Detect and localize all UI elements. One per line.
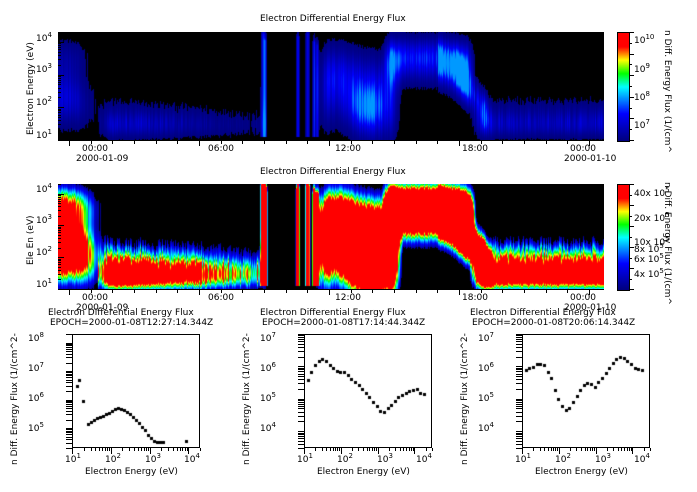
axis-tick xyxy=(58,270,61,271)
spectrum-2-xtick-1: 102 xyxy=(337,452,353,465)
axis-tick xyxy=(141,448,142,451)
axis-tick xyxy=(134,290,135,293)
axis-tick xyxy=(516,339,522,340)
axis-tick xyxy=(627,448,628,451)
axis-tick xyxy=(502,141,503,144)
axis-tick xyxy=(551,448,552,451)
axis-tick xyxy=(221,290,222,293)
axis-tick xyxy=(58,115,61,116)
axis-tick xyxy=(58,140,604,141)
axis-tick xyxy=(576,448,577,451)
axis-tick xyxy=(58,257,64,258)
axis-tick xyxy=(339,448,340,451)
axis-tick xyxy=(107,448,108,451)
axis-tick xyxy=(58,109,61,110)
axis-tick xyxy=(298,412,304,413)
axis-tick xyxy=(372,290,373,293)
axis-tick xyxy=(138,448,139,451)
axis-tick xyxy=(95,448,96,451)
axis-tick xyxy=(58,206,61,207)
axis-tick xyxy=(58,75,64,76)
axis-tick xyxy=(112,141,113,144)
axis-tick xyxy=(516,379,522,380)
axis-tick xyxy=(516,448,522,449)
axis-tick xyxy=(58,88,61,89)
panel-top-xtick-2: 12:00 xyxy=(335,144,361,154)
axis-tick xyxy=(58,259,61,260)
axis-tick xyxy=(372,448,373,451)
axis-tick xyxy=(58,49,61,50)
axis-tick xyxy=(553,448,554,451)
axis-tick xyxy=(66,349,72,350)
axis-tick xyxy=(459,290,460,295)
axis-tick xyxy=(394,290,395,293)
axis-tick xyxy=(629,43,632,44)
panel-mid-cb-tick-4: 6x 105 xyxy=(634,252,664,265)
axis-tick xyxy=(298,389,304,390)
axis-tick xyxy=(522,448,523,454)
panel-top-colorbar xyxy=(617,32,630,142)
axis-tick xyxy=(298,335,304,336)
axis-tick xyxy=(516,337,522,338)
axis-tick xyxy=(134,141,135,144)
axis-tick xyxy=(629,289,634,290)
axis-tick xyxy=(351,141,352,144)
spectrum-2-ytick-1: 106 xyxy=(260,361,276,374)
axis-tick xyxy=(629,237,632,238)
axis-tick xyxy=(58,197,61,198)
axis-tick xyxy=(358,448,359,451)
panel-mid-xtick-4: 00:00 xyxy=(570,293,596,303)
axis-tick xyxy=(516,436,522,437)
panel-top-cb-tick-2: 108 xyxy=(634,90,650,103)
axis-tick xyxy=(416,141,417,144)
axis-tick xyxy=(58,242,61,243)
axis-tick xyxy=(221,141,222,144)
axis-tick xyxy=(589,290,590,295)
panel-top-spectrogram xyxy=(58,32,604,140)
axis-tick xyxy=(481,141,482,144)
axis-tick xyxy=(66,345,72,346)
axis-tick xyxy=(333,448,334,451)
axis-tick xyxy=(156,141,157,144)
spectrum-1-subtitle: EPOCH=2000-01-08T12:27:14.344Z xyxy=(50,318,213,328)
spectrum-1-plot xyxy=(72,334,200,448)
spectrum-2-subtitle: EPOCH=2000-01-08T17:14:44.344Z xyxy=(262,318,425,328)
panel-mid-ylabel: Ele En (eV) xyxy=(26,215,36,265)
axis-tick xyxy=(351,290,352,293)
axis-tick xyxy=(516,434,522,435)
spectrum-3-xtick-2: 103 xyxy=(595,452,611,465)
axis-tick xyxy=(298,374,304,375)
axis-tick xyxy=(298,344,304,345)
panel-top-xtick-1: 06:00 xyxy=(208,144,234,154)
axis-tick xyxy=(632,448,633,454)
spectrum-1-ylabel: n Diff. Energy Flux (1/(cm^2- xyxy=(10,333,20,465)
spectrum-panel-1: Electron Differential Energy Flux EPOCH=… xyxy=(0,305,232,492)
axis-tick xyxy=(516,383,522,384)
spectrum-2-ylabel: n Diff. Energy Flux (1/(cm^2- xyxy=(242,333,252,465)
axis-tick xyxy=(298,341,304,342)
axis-tick xyxy=(58,230,61,231)
axis-tick xyxy=(304,448,305,454)
axis-tick xyxy=(66,437,72,438)
axis-tick xyxy=(629,205,634,206)
axis-tick xyxy=(298,404,304,405)
axis-tick xyxy=(66,334,72,335)
spectrum-3-title: Electron Differential Energy Flux xyxy=(470,308,616,318)
spectrum-1-xtick-2: 103 xyxy=(145,452,161,465)
axis-tick xyxy=(406,448,407,451)
axis-tick xyxy=(298,448,304,449)
axis-tick xyxy=(329,290,330,295)
axis-tick xyxy=(629,97,634,98)
axis-tick xyxy=(352,448,353,451)
axis-tick xyxy=(66,401,72,402)
axis-tick xyxy=(516,334,522,335)
axis-tick xyxy=(66,363,72,364)
axis-tick xyxy=(516,431,522,432)
axis-tick xyxy=(58,42,64,43)
axis-tick xyxy=(58,78,61,79)
axis-tick xyxy=(298,379,304,380)
axis-tick xyxy=(66,408,72,409)
axis-tick xyxy=(66,347,72,348)
axis-tick xyxy=(374,448,375,451)
spectrum-1-ytick-3: 105 xyxy=(28,421,44,434)
axis-tick xyxy=(66,382,72,383)
axis-tick xyxy=(58,248,61,249)
spectrum-1-xlabel: Electron Energy (eV) xyxy=(85,467,178,477)
axis-tick xyxy=(395,448,396,451)
axis-tick xyxy=(629,448,630,451)
axis-tick xyxy=(516,357,522,358)
axis-tick xyxy=(592,448,593,451)
axis-tick xyxy=(650,448,651,451)
axis-tick xyxy=(242,141,243,144)
axis-tick xyxy=(66,404,72,405)
axis-tick xyxy=(66,414,72,415)
spectrum-1-ytick-1: 107 xyxy=(28,361,44,374)
axis-tick xyxy=(629,118,634,119)
axis-tick xyxy=(58,92,61,93)
axis-tick xyxy=(559,448,560,454)
axis-tick xyxy=(516,400,522,401)
axis-tick xyxy=(629,279,632,280)
axis-tick xyxy=(516,404,522,405)
axis-tick xyxy=(481,290,482,293)
axis-tick xyxy=(264,141,265,144)
panel-top-xtick-4: 00:00 xyxy=(570,144,596,154)
axis-tick xyxy=(200,448,201,451)
axis-tick xyxy=(378,448,379,454)
axis-tick xyxy=(177,448,178,451)
axis-tick xyxy=(66,371,72,372)
axis-tick xyxy=(298,351,304,352)
axis-tick xyxy=(58,184,61,185)
spectrum-2-xtick-2: 103 xyxy=(377,452,393,465)
spectrum-1-xtick-3: 104 xyxy=(184,452,200,465)
axis-tick xyxy=(72,448,73,454)
axis-tick xyxy=(298,376,304,377)
axis-tick xyxy=(544,448,545,451)
axis-tick xyxy=(58,238,61,239)
spectrum-2-ytick-3: 104 xyxy=(260,421,276,434)
spectrum-2-plot xyxy=(304,334,432,448)
spectrum-3-ytick-1: 106 xyxy=(478,361,494,374)
axis-tick xyxy=(66,432,72,433)
axis-tick xyxy=(546,290,547,293)
spectrum-2-title: Electron Differential Energy Flux xyxy=(260,308,406,318)
axis-tick xyxy=(555,448,556,451)
spectrum-1-title: Electron Differential Energy Flux xyxy=(48,308,194,318)
axis-tick xyxy=(607,448,608,451)
axis-tick xyxy=(58,264,61,265)
axis-tick xyxy=(629,184,634,185)
axis-tick xyxy=(548,448,549,451)
axis-tick xyxy=(298,444,304,445)
axis-tick xyxy=(173,448,174,451)
axis-tick xyxy=(298,368,304,369)
panel-top-ytick-3: 103 xyxy=(36,62,52,75)
axis-tick xyxy=(242,290,243,293)
axis-tick xyxy=(335,448,336,451)
panel-mid-ytick-1: 101 xyxy=(36,277,52,290)
axis-tick xyxy=(66,431,72,432)
axis-tick xyxy=(570,448,571,451)
axis-tick xyxy=(177,290,178,293)
axis-tick xyxy=(369,448,370,451)
spectrum-2-ytick-0: 107 xyxy=(260,331,276,344)
panel-top-cb-tick-3: 107 xyxy=(634,118,650,131)
axis-tick xyxy=(363,448,364,451)
axis-tick xyxy=(298,400,304,401)
axis-tick xyxy=(516,366,522,367)
panel-top: Electron Differential Energy Flux Electr… xyxy=(0,0,697,168)
panel-top-ytick-1: 101 xyxy=(36,128,52,141)
axis-tick xyxy=(516,369,522,370)
axis-tick xyxy=(66,402,72,403)
axis-tick xyxy=(66,380,72,381)
axis-tick xyxy=(129,448,130,451)
axis-tick xyxy=(567,141,568,144)
axis-tick xyxy=(516,408,522,409)
axis-tick xyxy=(58,225,64,226)
spectrum-1-xtick-1: 102 xyxy=(105,452,121,465)
axis-tick xyxy=(533,448,534,451)
axis-tick xyxy=(389,448,390,451)
axis-tick xyxy=(58,32,61,33)
axis-tick xyxy=(66,428,72,429)
axis-tick xyxy=(426,448,427,451)
axis-tick xyxy=(146,448,147,451)
axis-tick xyxy=(180,448,181,451)
axis-tick xyxy=(298,408,304,409)
axis-tick xyxy=(298,433,304,434)
panel-mid-ytick-3: 103 xyxy=(36,213,52,226)
axis-tick xyxy=(516,335,522,336)
axis-tick xyxy=(66,344,72,345)
axis-tick xyxy=(322,448,323,451)
axis-tick xyxy=(516,351,522,352)
axis-tick xyxy=(58,84,61,85)
axis-tick xyxy=(286,141,287,144)
axis-tick xyxy=(99,448,100,451)
axis-tick xyxy=(298,334,304,335)
axis-tick xyxy=(403,448,404,451)
axis-tick xyxy=(629,140,634,141)
axis-tick xyxy=(58,45,61,46)
axis-tick xyxy=(298,357,304,358)
axis-tick xyxy=(585,448,586,451)
spectrum-3-xtick-3: 104 xyxy=(634,452,650,465)
axis-tick xyxy=(134,448,135,451)
axis-tick xyxy=(629,64,632,65)
axis-tick xyxy=(66,400,72,401)
axis-tick xyxy=(629,195,632,196)
axis-tick xyxy=(58,80,61,81)
axis-tick xyxy=(58,203,61,204)
axis-tick xyxy=(58,52,61,53)
axis-tick xyxy=(337,448,338,451)
axis-tick xyxy=(168,448,169,451)
axis-tick xyxy=(516,374,522,375)
axis-tick xyxy=(629,32,634,33)
axis-tick xyxy=(66,443,72,444)
axis-tick xyxy=(516,421,522,422)
axis-tick xyxy=(298,339,304,340)
axis-tick xyxy=(298,347,304,348)
axis-tick xyxy=(161,448,162,451)
axis-tick xyxy=(516,344,522,345)
axis-tick xyxy=(629,75,634,76)
axis-tick xyxy=(102,448,103,451)
axis-tick xyxy=(516,402,522,403)
axis-tick xyxy=(298,434,304,435)
axis-tick xyxy=(58,210,61,211)
panel-top-ytick-4: 104 xyxy=(36,31,52,44)
axis-tick xyxy=(298,431,304,432)
axis-tick xyxy=(587,448,588,451)
axis-tick xyxy=(330,448,331,451)
axis-tick xyxy=(315,448,316,451)
axis-tick xyxy=(516,441,522,442)
axis-tick xyxy=(326,448,327,451)
axis-tick xyxy=(58,267,61,268)
spectrum-2-xlabel: Electron Energy (eV) xyxy=(317,467,410,477)
panel-mid: Electron Differential Energy Flux Ele En… xyxy=(0,160,697,325)
axis-tick xyxy=(516,433,522,434)
axis-tick xyxy=(329,141,330,146)
axis-tick xyxy=(182,448,183,451)
axis-tick xyxy=(298,441,304,442)
axis-tick xyxy=(629,258,632,259)
panel-mid-title: Electron Differential Energy Flux xyxy=(260,167,406,177)
axis-tick xyxy=(524,290,525,293)
axis-tick xyxy=(437,290,438,293)
axis-tick xyxy=(629,247,634,248)
axis-tick xyxy=(298,337,304,338)
axis-tick xyxy=(414,448,415,454)
axis-tick xyxy=(69,290,70,295)
axis-tick xyxy=(66,357,72,358)
axis-tick xyxy=(58,117,61,118)
axis-tick xyxy=(589,141,590,146)
panel-mid-xtick-2: 12:00 xyxy=(335,293,361,303)
axis-tick xyxy=(58,82,61,83)
axis-tick xyxy=(264,290,265,293)
axis-tick xyxy=(516,371,522,372)
axis-tick xyxy=(66,411,72,412)
axis-tick xyxy=(298,421,304,422)
axis-tick xyxy=(540,448,541,451)
axis-tick xyxy=(66,375,72,376)
spectrum-3-ylabel: n Diff. Energy Flux (1/(cm^2- xyxy=(460,333,470,465)
axis-tick xyxy=(613,448,614,451)
panel-mid-ytick-2: 102 xyxy=(36,245,52,258)
axis-tick xyxy=(144,448,145,451)
axis-tick xyxy=(298,406,304,407)
axis-tick xyxy=(58,43,61,44)
axis-tick xyxy=(516,368,522,369)
axis-tick xyxy=(629,226,634,227)
axis-tick xyxy=(502,290,503,293)
axis-tick xyxy=(376,448,377,451)
axis-tick xyxy=(298,436,304,437)
axis-tick xyxy=(66,386,72,387)
axis-tick xyxy=(394,141,395,144)
axis-tick xyxy=(372,141,373,144)
axis-tick xyxy=(66,351,72,352)
panel-mid-xtick-1: 06:00 xyxy=(208,293,234,303)
axis-tick xyxy=(516,347,522,348)
axis-tick xyxy=(298,402,304,403)
axis-tick xyxy=(516,389,522,390)
axis-tick xyxy=(432,448,433,451)
axis-tick xyxy=(58,201,61,202)
axis-tick xyxy=(66,354,72,355)
panel-top-xtick-3: 18:00 xyxy=(462,144,488,154)
axis-tick xyxy=(69,141,70,146)
axis-tick xyxy=(122,448,123,451)
axis-tick xyxy=(58,76,61,77)
axis-tick xyxy=(66,448,72,449)
axis-tick xyxy=(58,97,61,98)
axis-tick xyxy=(58,59,61,60)
axis-tick xyxy=(66,372,72,373)
axis-tick xyxy=(150,448,151,454)
axis-tick xyxy=(58,110,61,111)
panel-top-ylabel: Electron Energy (eV) xyxy=(26,42,36,135)
axis-tick xyxy=(567,290,568,293)
panel-top-title: Electron Differential Energy Flux xyxy=(260,14,406,24)
axis-tick xyxy=(594,448,595,451)
spectrum-panel-3: Electron Differential Energy Flux EPOCH=… xyxy=(458,305,697,492)
axis-tick xyxy=(91,448,92,451)
axis-tick xyxy=(618,448,619,451)
panel-top-ytick-2: 102 xyxy=(36,95,52,108)
axis-tick xyxy=(58,195,61,196)
axis-tick xyxy=(66,377,72,378)
axis-tick xyxy=(307,290,308,293)
spectrum-3-ytick-3: 104 xyxy=(478,421,494,434)
axis-tick xyxy=(66,434,72,435)
panel-mid-cb-tick-5: 4x 105 xyxy=(634,267,664,280)
panel-top-cb-label-wrap: n Diff. Energy Flux (1/(cm^ xyxy=(672,30,697,40)
spectrum-panel-2: Electron Differential Energy Flux EPOCH=… xyxy=(232,305,464,492)
axis-tick xyxy=(58,65,61,66)
axis-tick xyxy=(590,448,591,451)
